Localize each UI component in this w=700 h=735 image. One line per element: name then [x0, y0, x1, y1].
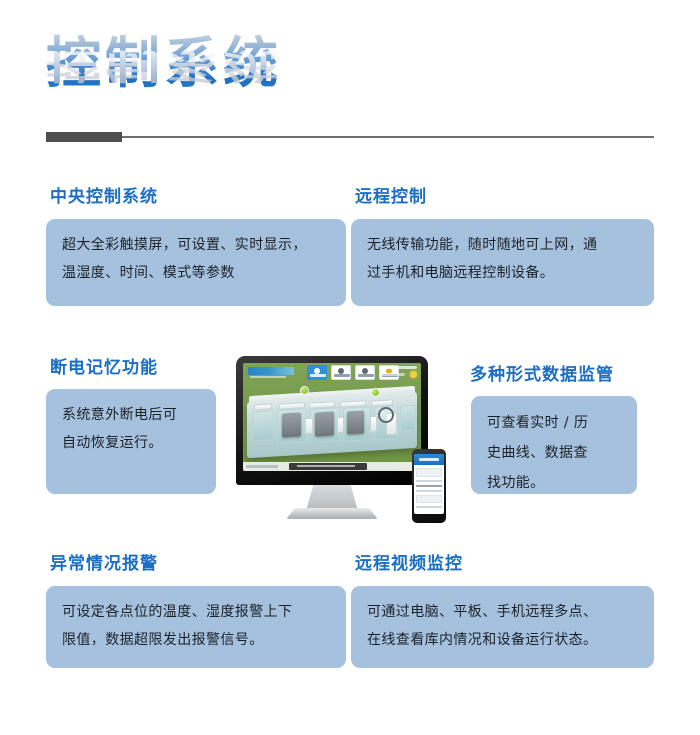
divider: [46, 132, 654, 142]
screen-statusbar-readout: [289, 463, 367, 470]
monitor-stand-base: [286, 508, 378, 519]
screen-statusbar: [243, 462, 421, 471]
info-card-remote-video: 可通过电脑、平板、手机远程多点、 在线查看库内情况和设备运行状态。: [351, 586, 654, 668]
screen-status-strip-secondary: [379, 373, 405, 376]
card-text-line: 限值，数据超限发出报警信号。: [62, 626, 330, 654]
hero-title-block: 控制系统 控制系统: [46, 30, 646, 120]
phone-list-block: [416, 468, 442, 477]
phone-list-row: [416, 480, 442, 482]
section-heading-abnormal-alarm: 异常情况报警: [50, 549, 158, 574]
card-text-line: 系统意外断电后可: [62, 401, 200, 429]
section-heading-data-supervision: 多种形式数据监管: [470, 360, 614, 385]
phone-list-row: [416, 485, 442, 487]
monitor-stand-neck: [306, 485, 358, 511]
sensor-marker-icon: [300, 386, 309, 395]
card-text-line: 无线传输功能，随时随地可上网，通: [367, 231, 638, 259]
card-text-line: 过手机和电脑远程控制设备。: [367, 259, 638, 287]
screen-tab-1: [307, 365, 327, 380]
card-text-line: 超大全彩触摸屏，可设置、实时显示，: [62, 231, 330, 259]
screen-tab-2: [331, 365, 351, 380]
card-text-line: 温湿度、时间、模式等参数: [62, 259, 330, 287]
divider-accent-block: [46, 132, 122, 142]
warehouse-tank: [347, 410, 364, 434]
info-card-data-supervision: 可查看实时 / 历 史曲线、数据查 找功能。: [471, 396, 637, 494]
screen-tab-label: [334, 374, 350, 377]
screen-status-strip: [379, 366, 417, 369]
weather-sun-icon: [410, 371, 417, 378]
screen-toolbar: [243, 363, 421, 382]
warehouse-unit: [254, 403, 272, 410]
warehouse-pillar: [337, 417, 344, 433]
card-text-line: 自动恢复运行。: [62, 429, 200, 457]
poster-page: 控制系统 控制系统 中央控制系统 超大全彩触摸屏，可设置、实时显示， 温湿度、时…: [0, 0, 700, 735]
warehouse-circular-unit: [378, 407, 394, 423]
monitor-screen: [243, 363, 421, 471]
warehouse-pillar: [370, 416, 377, 432]
smartphone-body: [412, 449, 446, 523]
card-text-line: 找功能。: [487, 468, 621, 498]
smartphone-screen: [414, 454, 444, 514]
phone-list-row: [416, 506, 442, 508]
warehouse-tank: [282, 412, 301, 437]
screen-tab-label: [310, 374, 326, 377]
warehouse-room: [252, 410, 274, 441]
phone-list-row: [416, 490, 442, 492]
screen-logo: [248, 367, 294, 375]
device-illustration: [232, 356, 460, 524]
info-card-abnormal-alarm: 可设定各点位的温度、湿度报警上下 限值，数据超限发出报警信号。: [46, 586, 346, 668]
card-text-line: 史曲线、数据查: [487, 438, 621, 468]
info-card-central-control: 超大全彩触摸屏，可设置、实时显示， 温湿度、时间、模式等参数: [46, 219, 346, 306]
screen-logo-subtitle: [250, 376, 286, 378]
sensor-marker-icon: [371, 388, 380, 397]
card-text-line: 在线查看库内情况和设备运行状态。: [367, 626, 638, 654]
warehouse-tank: [315, 411, 334, 436]
section-heading-remote-video: 远程视频监控: [355, 549, 463, 574]
phone-list-block: [416, 495, 442, 503]
page-title: 控制系统: [46, 30, 282, 96]
card-text-line: 可查看实时 / 历: [487, 408, 621, 438]
section-heading-power-memory: 断电记忆功能: [50, 353, 158, 378]
card-text-line: 可设定各点位的温度、湿度报警上下: [62, 598, 330, 626]
phone-app-title: [419, 458, 439, 461]
screen-tab-3: [355, 365, 375, 380]
screen-statusbar-readout-text: [297, 465, 355, 467]
screen-statusbar-left: [246, 465, 278, 468]
card-text-line: 可通过电脑、平板、手机远程多点、: [367, 598, 638, 626]
phone-app-header: [414, 454, 444, 465]
section-heading-central-control: 中央控制系统: [50, 182, 158, 207]
divider-line: [46, 136, 654, 138]
info-card-remote-control: 无线传输功能，随时随地可上网，通 过手机和电脑远程控制设备。: [351, 219, 654, 306]
monitor-bezel: [236, 356, 428, 485]
screen-tab-label: [358, 374, 374, 377]
info-card-power-memory: 系统意外断电后可 自动恢复运行。: [46, 389, 216, 494]
warehouse-pillar: [305, 418, 313, 434]
section-heading-remote-control: 远程控制: [355, 182, 427, 207]
warehouse-room: [400, 405, 416, 432]
